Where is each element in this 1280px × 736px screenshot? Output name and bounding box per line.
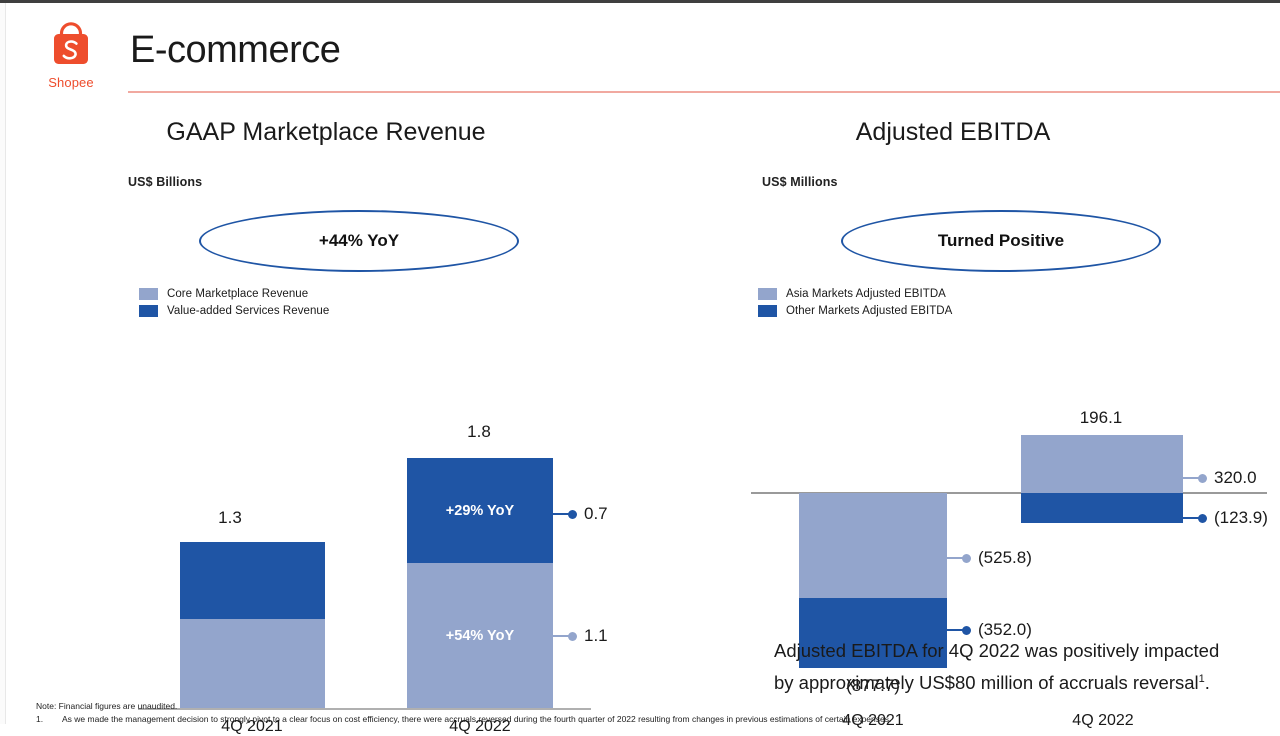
leader-line-icon bbox=[1183, 517, 1199, 519]
leader-dot-icon bbox=[962, 554, 971, 563]
gaap-marketplace-revenue-panel: GAAP Marketplace Revenue US$ Billions +4… bbox=[6, 110, 646, 710]
bar-2022-vas-growth-label: +29% YoY bbox=[446, 503, 514, 519]
leader-dot-icon bbox=[1198, 514, 1207, 523]
legend-label-core-marketplace: Core Marketplace Revenue bbox=[167, 288, 308, 300]
callout-label-right: Turned Positive bbox=[938, 231, 1064, 251]
footnote-1-text: As we made the management decision to st… bbox=[62, 714, 891, 724]
leader-value-vas: 0.7 bbox=[584, 504, 608, 524]
leader-dot-icon bbox=[1198, 474, 1207, 483]
bar-2022-core-marketplace: +54% YoY bbox=[407, 563, 553, 708]
leader-2022-core: 1.1 bbox=[553, 626, 608, 646]
chart-title-right: Adjusted EBITDA bbox=[636, 118, 1270, 147]
footnote-1: 1. As we made the management decision to… bbox=[36, 714, 1276, 724]
bar-2021-core-marketplace bbox=[180, 619, 325, 708]
callout-turned-positive: Turned Positive bbox=[841, 210, 1161, 272]
callout-label-left: +44% YoY bbox=[319, 231, 399, 251]
chart-title-left: GAAP Marketplace Revenue bbox=[6, 118, 646, 147]
leader-2022-other: (123.9) bbox=[1183, 508, 1268, 528]
footnotes: Note: Financial figures are unaudited. 1… bbox=[36, 701, 1276, 724]
chart-units-right: US$ Millions bbox=[762, 175, 838, 189]
bar-2021-value-added-services bbox=[180, 542, 325, 619]
shopee-bag-icon bbox=[43, 17, 99, 73]
ebitda-note: Adjusted EBITDA for 4Q 2022 was positive… bbox=[774, 637, 1274, 697]
bar-total-2022-left: 1.8 bbox=[399, 422, 559, 442]
leader-line-icon bbox=[947, 557, 963, 559]
footnote-1-number: 1. bbox=[36, 714, 62, 724]
legend-item-asia-markets: Asia Markets Adjusted EBITDA bbox=[758, 288, 952, 300]
bar-2022-asia-markets bbox=[1021, 435, 1183, 493]
leader-dot-icon bbox=[568, 632, 577, 641]
bar-chart-left: 1.3 1.8 +29% YoY +54% YoY 0.7 1.1 4Q 202… bbox=[134, 310, 604, 710]
leader-line-icon bbox=[553, 513, 569, 515]
legend-item-core-marketplace: Core Marketplace Revenue bbox=[139, 288, 329, 300]
leader-2022-asia: 320.0 bbox=[1183, 468, 1257, 488]
leader-line-icon bbox=[947, 629, 963, 631]
bar-2021-asia-markets bbox=[799, 493, 947, 598]
adjusted-ebitda-panel: Adjusted EBITDA US$ Millions Turned Posi… bbox=[646, 110, 1280, 710]
leader-dot-icon bbox=[568, 510, 577, 519]
footnote-unaudited: Note: Financial figures are unaudited. bbox=[36, 701, 1276, 711]
slide-header: Shopee E-commerce bbox=[0, 3, 1280, 103]
shopee-logo: Shopee bbox=[40, 17, 102, 90]
bar-2022-core-growth-label: +54% YoY bbox=[446, 628, 514, 644]
leader-2021-asia: (525.8) bbox=[947, 548, 1032, 568]
legend-swatch-light-icon bbox=[139, 288, 158, 300]
legend-label-asia-markets: Asia Markets Adjusted EBITDA bbox=[786, 288, 946, 300]
title-divider bbox=[128, 91, 1280, 93]
leader-line-icon bbox=[1183, 477, 1199, 479]
leader-value-asia-2021: (525.8) bbox=[978, 548, 1032, 568]
bar-2022-other-markets bbox=[1021, 493, 1183, 523]
shopee-wordmark: Shopee bbox=[40, 75, 102, 90]
leader-value-other-2022: (123.9) bbox=[1214, 508, 1268, 528]
bar-2022-value-added-services: +29% YoY bbox=[407, 458, 553, 563]
callout-yoy-left: +44% YoY bbox=[199, 210, 519, 272]
leader-line-icon bbox=[553, 635, 569, 637]
bar-total-2021-left: 1.3 bbox=[150, 508, 310, 528]
ebitda-note-line2: by approximately US$80 million of accrua… bbox=[774, 672, 1199, 693]
leader-2022-vas: 0.7 bbox=[553, 504, 608, 524]
ebitda-note-line1: Adjusted EBITDA for 4Q 2022 was positive… bbox=[774, 640, 1219, 661]
leader-dot-icon bbox=[962, 626, 971, 635]
legend-swatch-light-icon bbox=[758, 288, 777, 300]
chart-units-left: US$ Billions bbox=[128, 175, 202, 189]
bar-total-2022-right: 196.1 bbox=[1021, 408, 1181, 428]
leader-value-asia-2022: 320.0 bbox=[1214, 468, 1257, 488]
page-title: E-commerce bbox=[130, 29, 340, 72]
leader-value-core: 1.1 bbox=[584, 626, 608, 646]
ebitda-note-period: . bbox=[1205, 672, 1210, 693]
